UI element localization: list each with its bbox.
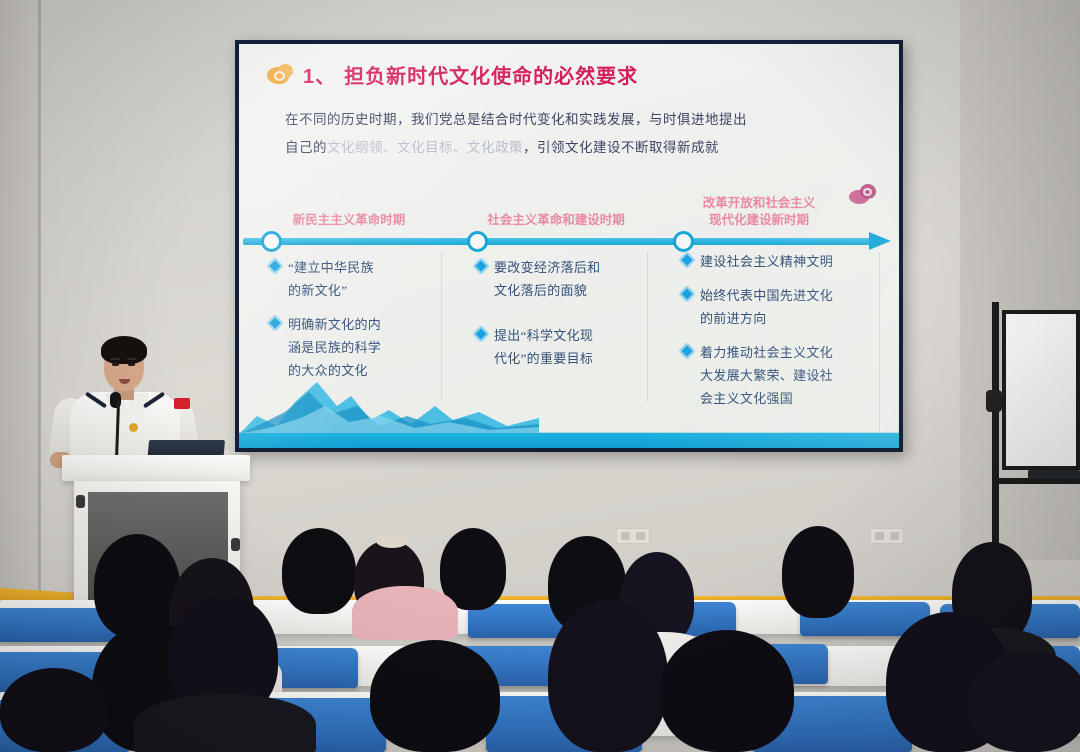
slide-body-line-1: 在不同的历史时期，我们党总是结合时代变化和实践发展，与时俱进地提出 <box>285 106 865 134</box>
timeline: 新民主主义革命时期 社会主义革命和建设时期 改革开放和社会主义 现代化建设新时期 <box>239 194 899 256</box>
podium-top-surface <box>62 455 250 481</box>
slide-body-line-2: 自己的文化纲领、文化目标、文化政策，引领文化建设不断取得新成就 <box>285 134 865 162</box>
timeline-column-2: 要改变经济落后和 文化落后的面貌 提出“科学文化现 代化”的重要目标 <box>475 256 650 381</box>
diamond-bullet-icon <box>679 343 696 360</box>
power-outlet[interactable] <box>616 528 650 544</box>
bullet-text: 提出“科学文化现 代化”的重要目标 <box>494 324 593 370</box>
timeline-axis <box>243 238 873 245</box>
timeline-node[interactable] <box>467 231 488 252</box>
slide-title-number: 1、 <box>303 60 336 89</box>
whiteboard-flipchart[interactable] <box>1002 310 1080 470</box>
flipchart-post <box>992 302 999 552</box>
slide-body-line-2-faded: 文化纲领、文化目标、文化政策 <box>327 140 523 155</box>
mountain-illustration <box>239 372 539 434</box>
presenter-eye-left <box>112 363 119 366</box>
diamond-bullet-icon <box>473 258 490 275</box>
timeline-arrowhead-icon <box>869 232 891 250</box>
timeline-period-label-3: 改革开放和社会主义 现代化建设新时期 <box>669 195 849 229</box>
bullet-text: 要改变经济落后和 文化落后的面貌 <box>494 256 600 302</box>
wall-column-edge <box>38 0 41 600</box>
presenter-lapel-badge <box>129 423 138 432</box>
list-item: “建立中华民族 的新文化” <box>269 256 437 302</box>
power-outlet[interactable] <box>870 528 904 544</box>
bullet-text: “建立中华民族 的新文化” <box>288 256 374 302</box>
list-item: 要改变经济落后和 文化落后的面貌 <box>475 256 650 302</box>
presentation-slide: 1、 担负新时代文化使命的必然要求 在不同的历史时期，我们党总是结合时代变化和实… <box>239 44 899 448</box>
diamond-bullet-icon <box>679 252 696 269</box>
list-item: 建设社会主义精神文明 <box>681 250 881 273</box>
lecture-hall-photo: 1、 担负新时代文化使命的必然要求 在不同的历史时期，我们党总是结合时代变化和实… <box>0 0 1080 752</box>
bullet-text: 建设社会主义精神文明 <box>700 250 833 273</box>
slide-title-text: 担负新时代文化使命的必然要求 <box>344 60 638 89</box>
podium-knob[interactable] <box>231 538 240 551</box>
diamond-bullet-icon <box>679 286 696 303</box>
projection-screen[interactable]: 1、 担负新时代文化使命的必然要求 在不同的历史时期，我们党总是结合时代变化和实… <box>235 40 903 452</box>
presenter-eyebrow-left <box>111 358 120 360</box>
podium-knob[interactable] <box>76 495 85 508</box>
bullet-text: 着力推动社会主义文化 大发展大繁荣、建设社 会主义文化强国 <box>700 341 833 410</box>
slide-body-line-2-post: ，引领文化建设不断取得新成就 <box>523 140 719 155</box>
list-item: 提出“科学文化现 代化”的重要目标 <box>475 324 650 370</box>
presenter-eye-right <box>128 363 135 366</box>
wall-column-left <box>0 0 40 600</box>
flipchart-clamp[interactable] <box>986 390 1002 412</box>
slide-title-row: 1、 担负新时代文化使命的必然要求 <box>267 60 638 89</box>
list-item: 始终代表中国先进文化 的前进方向 <box>681 284 881 330</box>
timeline-node[interactable] <box>261 231 282 252</box>
presenter-eyebrow-right <box>127 358 136 360</box>
list-item: 着力推动社会主义文化 大发展大繁荣、建设社 会主义文化强国 <box>681 341 881 410</box>
diamond-bullet-icon <box>473 326 490 343</box>
cloud-swirl-icon <box>267 64 295 86</box>
flipchart-marker-tray <box>1028 470 1080 479</box>
bullet-text: 始终代表中国先进文化 的前进方向 <box>700 284 833 330</box>
timeline-column-3: 建设社会主义精神文明 始终代表中国先进文化 的前进方向 着力推动社会主义文化 大… <box>681 250 881 421</box>
presenter-flag-emblem <box>174 398 190 409</box>
slide-bottom-bar <box>239 433 899 448</box>
slide-body-line-2-pre: 自己的 <box>285 140 327 155</box>
timeline-node[interactable] <box>673 231 694 252</box>
presenter-hair <box>101 336 147 364</box>
slide-body-paragraph: 在不同的历史时期，我们党总是结合时代变化和实践发展，与时俱进地提出 自己的文化纲… <box>285 106 865 162</box>
timeline-period-label-2: 社会主义革命和建设时期 <box>461 212 651 229</box>
timeline-period-label-1: 新民主主义革命时期 <box>259 212 439 229</box>
diamond-bullet-icon <box>267 315 284 332</box>
diamond-bullet-icon <box>267 258 284 275</box>
